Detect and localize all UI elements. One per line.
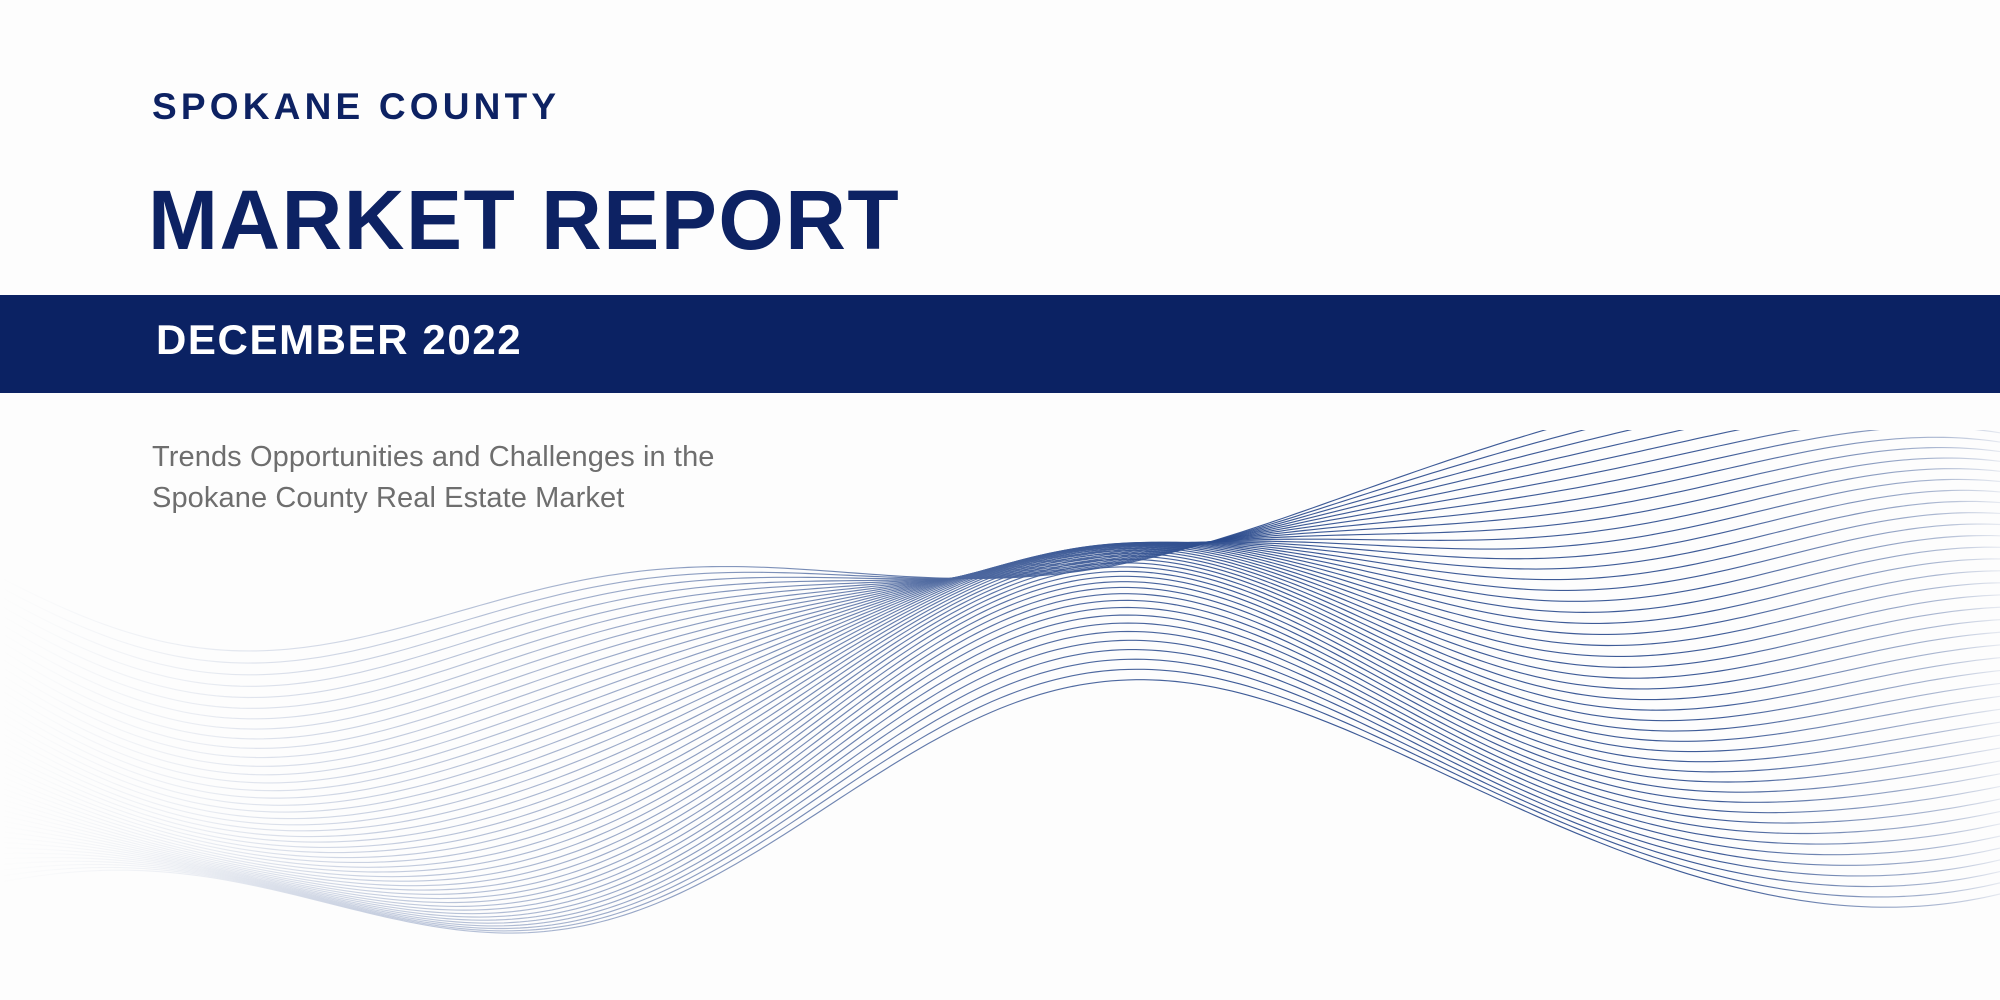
wave-line [0,615,2000,914]
wave-line [0,571,2000,885]
wave-line [0,576,2000,890]
wave-line [0,479,2000,766]
wave-line [0,549,2000,853]
wave-line [0,556,2000,867]
subtitle: Trends Opportunities and Challenges in t… [152,437,715,519]
wave-line [0,587,2000,898]
wave-line [0,600,2000,906]
wave-line [0,501,2000,782]
wave-line [0,553,2000,862]
wave-line [0,607,2000,910]
wave-line [0,543,2000,819]
wave-line [0,544,2000,836]
report-date-label: DECEMBER 2022 [156,319,522,361]
wave-line [0,680,2000,933]
wave-line [0,567,2000,881]
wave-line [0,659,2000,928]
wave-line [0,513,2000,791]
wave-line [0,543,2000,825]
wave-line [0,640,2000,923]
wave-line [0,524,2000,798]
wave-line [0,543,2000,830]
market-report-cover: SPOKANE COUNTY MARKET REPORT DECEMBER 20… [0,0,2000,1000]
wave-line [0,631,2000,920]
wave-line [0,582,2000,895]
wave-line [0,547,2000,848]
wave-line [0,490,2000,774]
wave-line [0,594,2000,903]
wave-line [0,559,2000,872]
wave-line [0,623,2000,917]
subtitle-line-1: Trends Opportunities and Challenges in t… [152,437,715,478]
wave-line [0,545,2000,842]
wave-line [0,551,2000,858]
wave-line [0,563,2000,877]
eyebrow-county-label: SPOKANE COUNTY [152,88,560,125]
date-band: DECEMBER 2022 [0,295,2000,393]
subtitle-line-2: Spokane County Real Estate Market [152,478,715,519]
wave-line [0,669,2000,931]
page-title: MARKET REPORT [148,178,900,262]
wave-line [0,536,2000,806]
wave-line [0,650,2000,926]
wave-line [0,542,2000,812]
